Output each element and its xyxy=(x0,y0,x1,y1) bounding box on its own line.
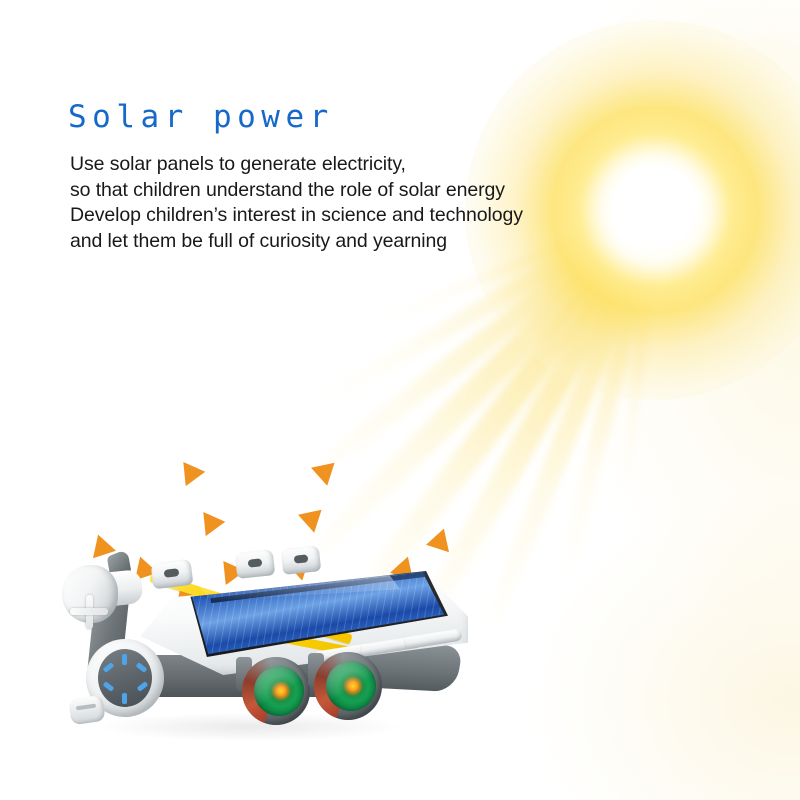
description-line-3: Develop children’s interest in science a… xyxy=(70,203,590,229)
sunlight-arrow-3-1 xyxy=(311,463,339,489)
solar-toy-rover xyxy=(60,545,490,760)
description-line-1: Use solar panels to generate electricity… xyxy=(70,152,590,178)
description-line-4: and let them be full of curiosity and ye… xyxy=(70,229,590,255)
sun-core xyxy=(610,165,700,255)
sunlight-arrow-2-1 xyxy=(175,462,205,491)
description-text: Use solar panels to generate electricity… xyxy=(70,152,590,254)
nose-cross-horizontal xyxy=(70,608,108,615)
description-line-2: so that children understand the role of … xyxy=(70,178,590,204)
front-hub-mark-6 xyxy=(103,662,115,673)
rover-front-hub-face xyxy=(98,649,152,707)
sunlight-arrow-2-2 xyxy=(195,512,225,541)
rover-rear-rim-gloss-2 xyxy=(326,661,376,711)
illustration-canvas: Solar power Use solar panels to generate… xyxy=(0,0,800,800)
front-hub-mark-3 xyxy=(137,681,149,692)
page-title: Solar power xyxy=(68,102,334,133)
sunlight-arrow-3-2 xyxy=(298,510,326,536)
front-hub-mark-1 xyxy=(122,654,127,665)
rover-front-axle-stub xyxy=(68,695,105,725)
front-hub-mark-2 xyxy=(136,662,148,673)
rover-rear-rim-gloss-1 xyxy=(254,666,304,716)
rover-nose-cap xyxy=(62,565,118,623)
front-hub-mark-4 xyxy=(122,693,127,704)
front-hub-mark-5 xyxy=(103,681,115,692)
